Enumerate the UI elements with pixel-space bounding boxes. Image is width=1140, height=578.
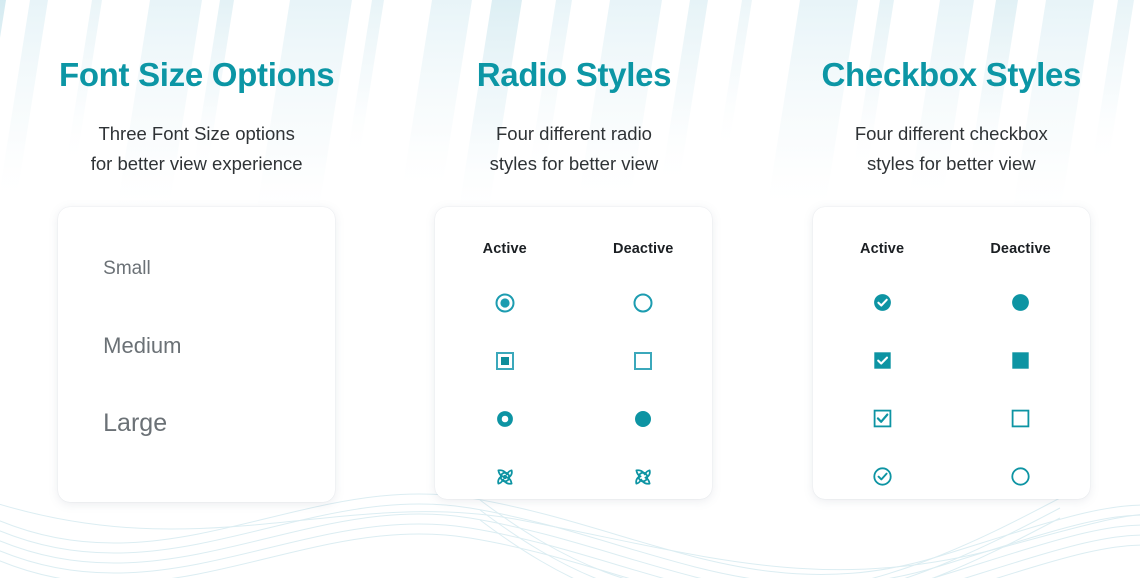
radio-donut-icon[interactable] xyxy=(435,390,574,448)
radio-circle-solid-icon[interactable] xyxy=(574,390,713,448)
font-size-option-medium[interactable]: Medium xyxy=(103,335,335,357)
font-size-option-large[interactable]: Large xyxy=(103,411,335,436)
column-title-font-size: Font Size Options xyxy=(59,58,334,91)
checkbox-styles-card: Active Deactive xyxy=(813,207,1090,499)
column-subtitle-radio-styles: Four different radio styles for better v… xyxy=(490,119,659,179)
column-header-active: Active xyxy=(435,207,574,267)
square-solid-icon[interactable] xyxy=(951,332,1090,390)
check-circle-outline-icon[interactable] xyxy=(813,448,952,506)
font-size-card: Small Medium Large xyxy=(58,207,335,502)
radio-ring-dot-icon[interactable] xyxy=(435,267,574,332)
column-header-deactive: Deactive xyxy=(951,207,1090,267)
radio-ring-empty-icon[interactable] xyxy=(574,267,713,332)
table-row xyxy=(813,332,1090,390)
column-subtitle-checkbox-styles: Four different checkbox styles for bette… xyxy=(855,119,1048,179)
table-row xyxy=(813,390,1090,448)
table-row xyxy=(435,390,712,448)
column-title-radio-styles: Radio Styles xyxy=(477,58,671,91)
font-size-option-small[interactable]: Small xyxy=(103,259,335,278)
feature-columns: Font Size Options Three Font Size option… xyxy=(0,0,1140,578)
column-header-deactive: Deactive xyxy=(574,207,713,267)
check-square-outline-icon[interactable] xyxy=(813,390,952,448)
radio-styles-card: Active Deactive xyxy=(435,207,712,499)
circle-outline-icon[interactable] xyxy=(951,448,1090,506)
circle-solid-icon[interactable] xyxy=(951,267,1090,332)
table-row xyxy=(813,267,1090,332)
table-row xyxy=(813,448,1090,506)
table-row xyxy=(435,267,712,332)
table-header-row: Active Deactive xyxy=(435,207,712,267)
table-row xyxy=(435,332,712,390)
checkbox-styles-table: Active Deactive xyxy=(813,207,1090,506)
column-radio-styles: Radio Styles Four different radio styles… xyxy=(385,58,762,578)
check-square-filled-icon[interactable] xyxy=(813,332,952,390)
radio-styles-table: Active Deactive xyxy=(435,207,712,506)
column-font-size-options: Font Size Options Three Font Size option… xyxy=(0,58,385,578)
radio-square-filled-icon[interactable] xyxy=(435,332,574,390)
column-subtitle-font-size: Three Font Size options for better view … xyxy=(91,119,303,179)
radio-square-empty-icon[interactable] xyxy=(574,332,713,390)
column-title-checkbox-styles: Checkbox Styles xyxy=(822,58,1082,91)
square-outline-icon[interactable] xyxy=(951,390,1090,448)
check-circle-filled-icon[interactable] xyxy=(813,267,952,332)
table-row xyxy=(435,448,712,506)
radio-swirl-dot-icon[interactable] xyxy=(435,448,574,506)
table-header-row: Active Deactive xyxy=(813,207,1090,267)
radio-swirl-empty-icon[interactable] xyxy=(574,448,713,506)
column-header-active: Active xyxy=(813,207,952,267)
column-checkbox-styles: Checkbox Styles Four different checkbox … xyxy=(763,58,1140,578)
